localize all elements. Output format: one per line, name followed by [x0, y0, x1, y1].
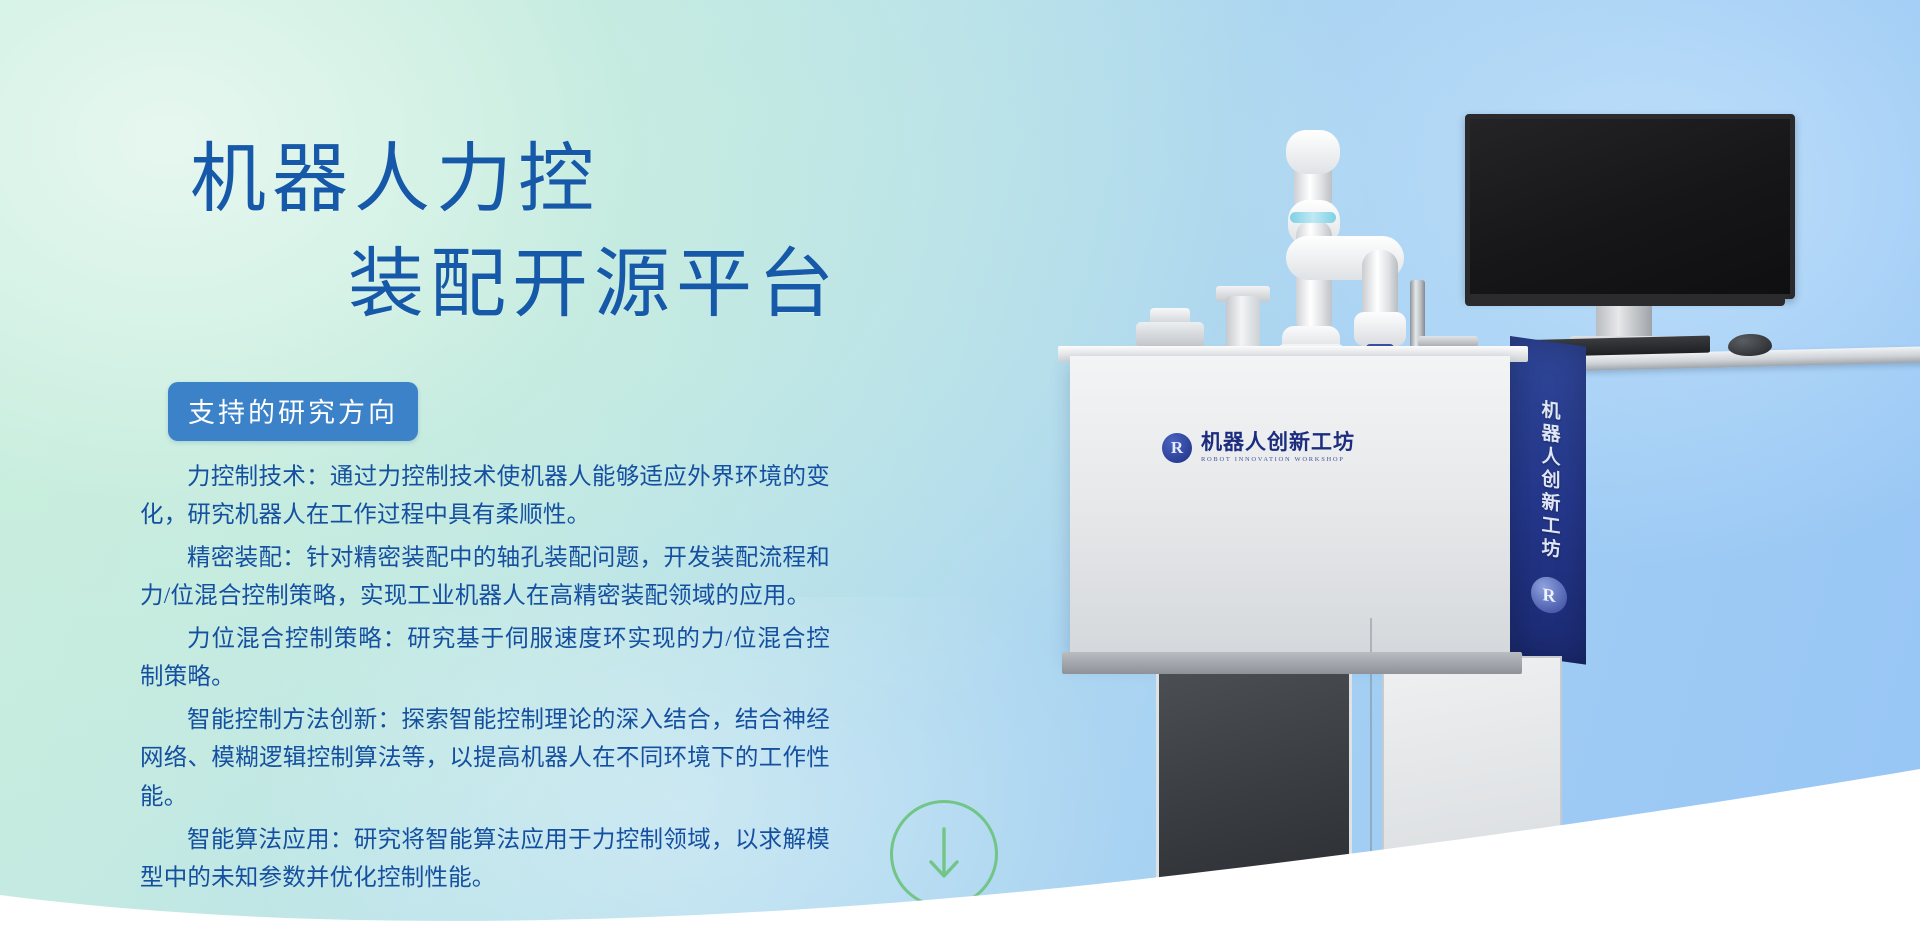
cabinet-logo-text: 机器人创新工坊 ROBOT INNOVATION WORKSHOP: [1201, 432, 1355, 463]
robot-joint-ring: [1290, 212, 1336, 223]
cabinet-window: [1156, 662, 1352, 888]
side-panel-text: 机器人创新工坊: [1536, 398, 1563, 563]
robot-wrist: [1354, 312, 1406, 346]
cabinet-logo-cn: 机器人创新工坊: [1201, 432, 1355, 453]
cabinet-access-panel: [1382, 656, 1562, 894]
list-item: 精密装配：针对精密装配中的轴孔装配问题，开发装配流程和力/位混合控制策略，实现工…: [140, 539, 830, 615]
side-panel-logo-icon: R: [1531, 574, 1567, 615]
monitor-icon: [1465, 114, 1795, 299]
workshop-logo-icon: R: [1162, 433, 1192, 463]
page-title: 机器人力控 装配开源平台: [190, 128, 890, 338]
list-item: 智能控制方法创新：探索智能控制理论的深入结合，结合神经网络、模糊逻辑控制算法等，…: [140, 701, 830, 815]
page-title-line-2: 装配开源平台: [190, 233, 890, 338]
monitor-bezel: [1465, 294, 1785, 306]
research-directions-list: 力控制技术：通过力控制技术使机器人能够适应外界环境的变化，研究机器人在工作过程中…: [140, 458, 830, 902]
arrow-down-icon: [924, 825, 964, 883]
hero-banner: R 机器人创新工坊 ROBOT INNOVATION WORKSHOP 机器人创…: [0, 0, 1920, 937]
cabinet-logo: R 机器人创新工坊 ROBOT INNOVATION WORKSHOP: [1162, 432, 1355, 463]
list-item: 力位混合控制策略：研究基于伺服速度环实现的力/位混合控制策略。: [140, 620, 830, 696]
scroll-down-button[interactable]: [890, 800, 998, 908]
robot-joint-top: [1286, 130, 1340, 174]
list-item: 力控制技术：通过力控制技术使机器人能够适应外界环境的变化，研究机器人在工作过程中…: [140, 458, 830, 534]
list-item: 智能算法应用：研究将智能算法应用于力控制领域，以求解模型中的未知参数并优化控制性…: [140, 821, 830, 897]
workpiece-fixture: [1136, 322, 1204, 348]
monitor-neck: [1596, 306, 1652, 340]
page-title-line-1: 机器人力控: [190, 128, 890, 233]
cabinet-plinth: [1062, 652, 1522, 674]
cabinet-logo-en: ROBOT INNOVATION WORKSHOP: [1201, 456, 1355, 463]
mouse-icon: [1728, 333, 1772, 356]
side-panel-branding: 机器人创新工坊 R: [1514, 395, 1584, 618]
hero-content: 机器人力控 装配开源平台 支持的研究方向 力控制技术：通过力控制技术使机器人能够…: [0, 0, 900, 937]
product-photo: R 机器人创新工坊 ROBOT INNOVATION WORKSHOP 机器人创…: [1010, 100, 1920, 800]
monitor-screen: [1470, 119, 1790, 294]
section-badge: 支持的研究方向: [168, 382, 418, 441]
cabinet-body: R 机器人创新工坊 ROBOT INNOVATION WORKSHOP: [1070, 356, 1510, 656]
